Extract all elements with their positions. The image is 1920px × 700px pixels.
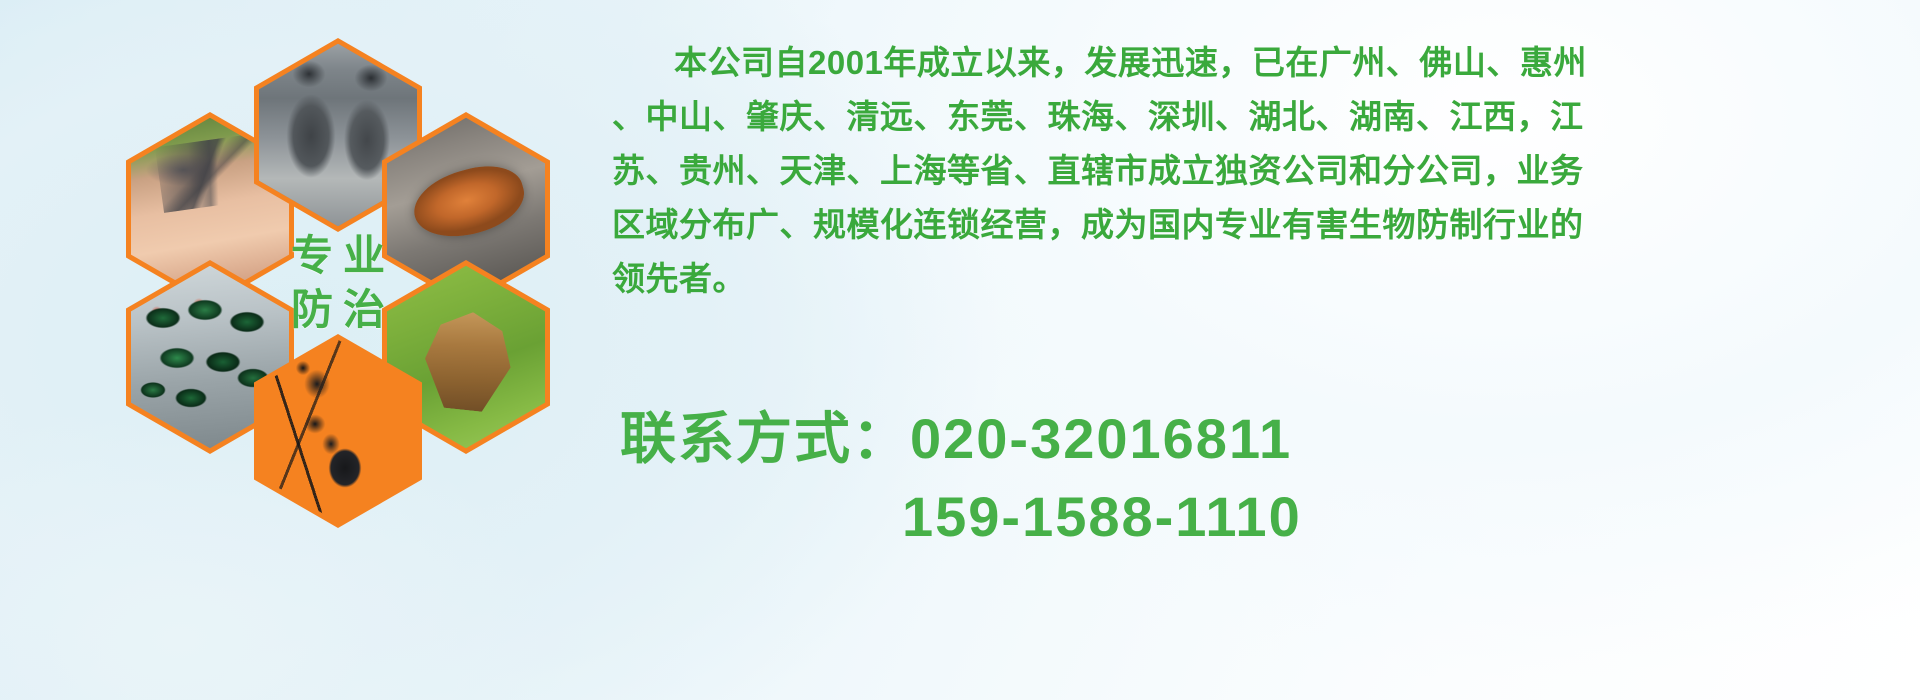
intro-line: 苏、贵州、天津、上海等省、直辖市成立独资公司和分公司，业务 (612, 144, 1912, 198)
intro-line: 、中山、肇庆、清远、东莞、珠海、深圳、湖北、湖南、江西，江 (612, 90, 1912, 144)
contact-line-landline[interactable]: 联系方式：020-32016811 (620, 400, 1920, 478)
intro-line-text: 区域分布广、规模化连锁经营，成为国内专业有害生物防制行业的 (612, 206, 1584, 243)
contact-block: 联系方式：020-32016811 159-1588-1110 (620, 400, 1920, 556)
slogan-line-2: 防治 (281, 289, 395, 331)
contact-line-mobile[interactable]: 159-1588-1110 (620, 478, 1920, 556)
intro-line: 领先者。 (612, 252, 1912, 306)
honeycomb-cluster: 专业 防治 (88, 12, 588, 572)
slogan-line-1: 专业 (281, 235, 395, 277)
intro-line-text: 领先者。 (612, 260, 746, 297)
intro-line-text: 苏、贵州、天津、上海等省、直辖市成立独资公司和分公司，业务 (612, 152, 1584, 189)
intro-line-text: 、中山、肇庆、清远、东莞、珠海、深圳、湖北、湖南、江西，江 (612, 98, 1584, 135)
promo-banner: 专业 防治 本公司自2001年成立以来，发展迅速，已在广州、佛山、惠州 、中山、… (0, 0, 1920, 700)
intro-block: 本公司自2001年成立以来，发展迅速，已在广州、佛山、惠州 、中山、肇庆、清远、… (612, 36, 1912, 306)
intro-line: 本公司自2001年成立以来，发展迅速，已在广州、佛山、惠州 (612, 36, 1912, 90)
intro-line-text: 本公司自2001年成立以来，发展迅速，已在广州、佛山、惠州 (674, 44, 1587, 81)
intro-line: 区域分布广、规模化连锁经营，成为国内专业有害生物防制行业的 (612, 198, 1912, 252)
intro-paragraph: 本公司自2001年成立以来，发展迅速，已在广州、佛山、惠州 、中山、肇庆、清远、… (612, 36, 1912, 306)
